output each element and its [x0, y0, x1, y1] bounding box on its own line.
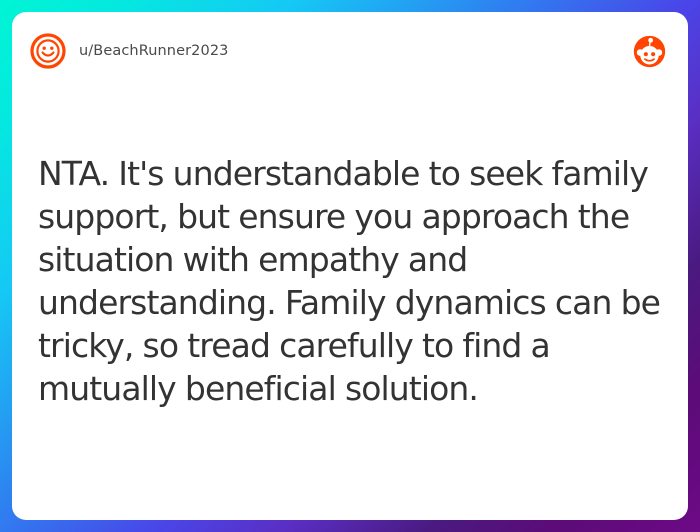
post-header: u/BeachRunner2023 [12, 12, 688, 90]
reddit-snoo-icon[interactable] [633, 35, 666, 68]
post-body-text: NTA. It's understandable to seek family … [38, 152, 668, 410]
smiley-face-icon [30, 33, 66, 69]
gradient-frame: u/BeachRunner2023 NTA. It's understandab… [0, 0, 700, 532]
reddit-post-card: u/BeachRunner2023 NTA. It's understandab… [12, 12, 688, 520]
username-label: u/BeachRunner2023 [79, 43, 228, 59]
